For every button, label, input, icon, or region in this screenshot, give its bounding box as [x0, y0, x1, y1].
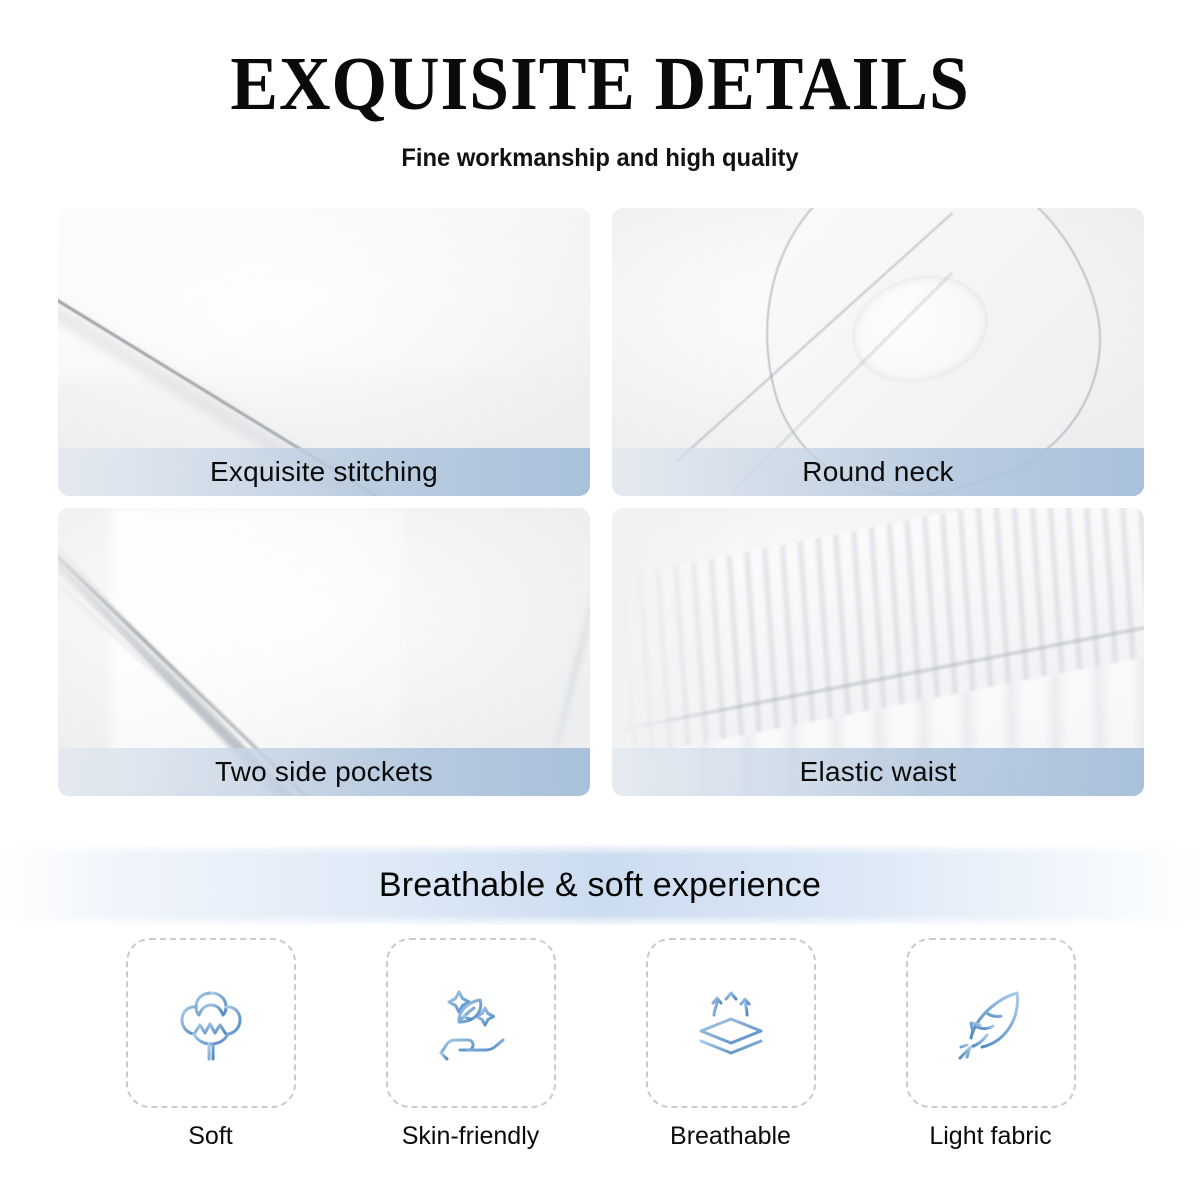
feature-item-light-fabric[interactable]: Light fabric: [898, 938, 1083, 1151]
detail-photo-grid: Exquisite stitching Round neck Two side …: [58, 208, 1144, 796]
detail-card-elastic-waist[interactable]: Elastic waist: [612, 508, 1144, 796]
feature-icon-box: [906, 938, 1076, 1108]
page-subtitle: Fine workmanship and high quality: [30, 144, 1170, 173]
page-header: EXQUISITE DETAILS Fine workmanship and h…: [0, 0, 1200, 173]
caption-label: Round neck: [802, 456, 953, 488]
feature-row: Soft: [118, 938, 1083, 1151]
feature-label: Skin-friendly: [402, 1122, 540, 1151]
feature-icon-box: [646, 938, 816, 1108]
feature-item-skin-friendly[interactable]: Skin-friendly: [378, 938, 563, 1151]
caption-label: Exquisite stitching: [210, 456, 438, 488]
caption-band: Two side pockets: [58, 748, 590, 796]
caption-label: Two side pockets: [215, 756, 433, 788]
detail-card-exquisite-stitching[interactable]: Exquisite stitching: [58, 208, 590, 496]
caption-band: Exquisite stitching: [58, 448, 590, 496]
feature-label: Light fabric: [929, 1122, 1051, 1151]
detail-card-two-side-pockets[interactable]: Two side pockets: [58, 508, 590, 796]
fabric-layers-airflow-icon: [683, 975, 779, 1071]
detail-card-round-neck[interactable]: Round neck: [612, 208, 1144, 496]
caption-band: Elastic waist: [612, 748, 1144, 796]
feature-label: Soft: [188, 1122, 232, 1151]
page-title: EXQUISITE DETAILS: [36, 46, 1164, 122]
cotton-boll-icon: [163, 975, 259, 1071]
feature-label: Breathable: [670, 1122, 791, 1151]
feature-icon-box: [386, 938, 556, 1108]
experience-banner: Breathable & soft experience: [0, 845, 1200, 925]
caption-band: Round neck: [612, 448, 1144, 496]
experience-banner-text: Breathable & soft experience: [379, 866, 821, 905]
feature-item-breathable[interactable]: Breathable: [638, 938, 823, 1151]
feather-icon: [943, 975, 1039, 1071]
caption-label: Elastic waist: [800, 756, 957, 788]
hand-holding-feather-icon: [423, 975, 519, 1071]
feature-item-soft[interactable]: Soft: [118, 938, 303, 1151]
feature-icon-box: [126, 938, 296, 1108]
